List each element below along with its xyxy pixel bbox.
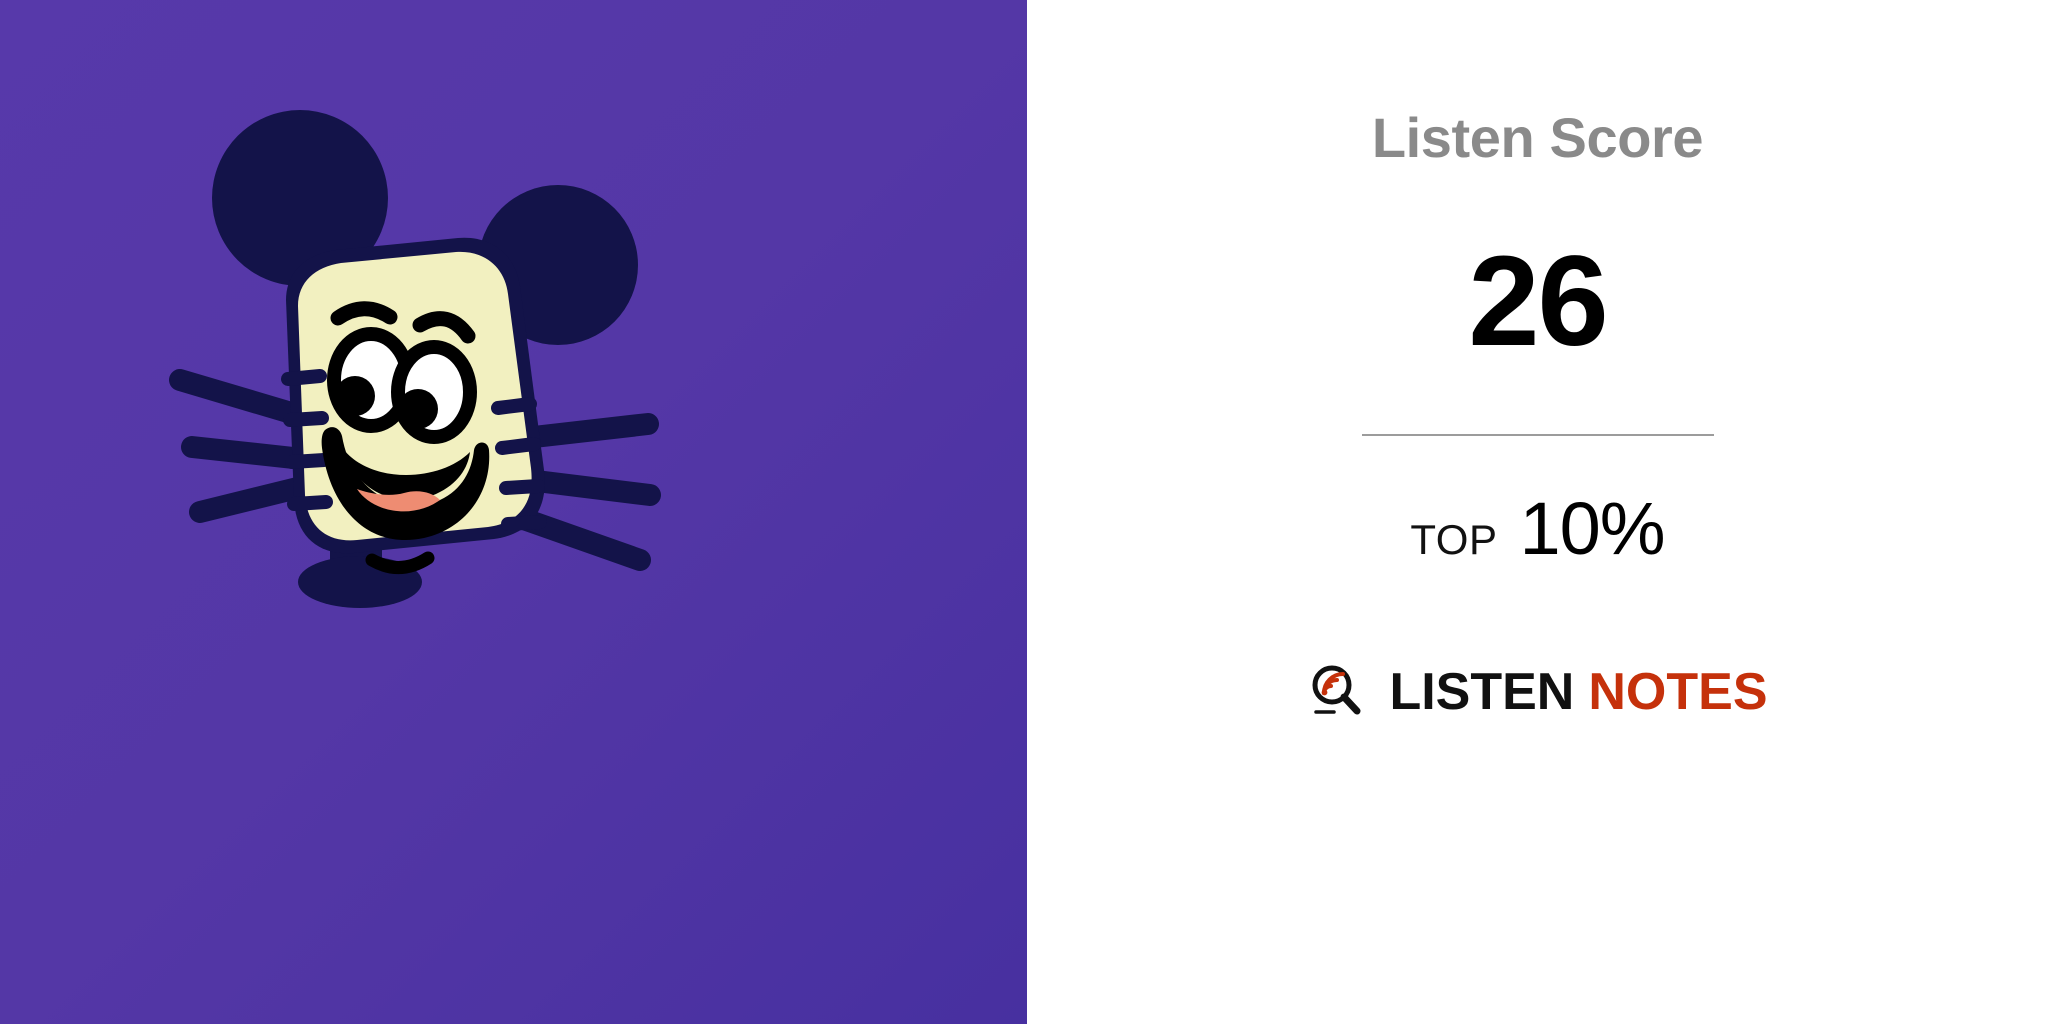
- tick-left-3: [292, 460, 324, 462]
- rank-percentile-value: 10%: [1519, 492, 1664, 566]
- rank-label: TOP: [1410, 519, 1497, 561]
- score-divider: [1362, 434, 1714, 436]
- eyes-group: [334, 334, 470, 437]
- tick-right-3: [506, 486, 538, 488]
- tick-right-4: [508, 522, 540, 524]
- tick-left-1: [288, 376, 320, 379]
- listennotes-wordmark: LISTENNOTES: [1389, 666, 1767, 718]
- pupil-right: [398, 389, 438, 429]
- podcast-cover-art: [0, 0, 1027, 1024]
- listen-score-value: 26: [1468, 238, 1606, 366]
- listennotes-magnifier-rss-icon: [1307, 662, 1367, 722]
- tick-right-1: [498, 404, 530, 408]
- rank-row: TOP 10%: [1410, 492, 1664, 566]
- listen-score-card: Listen Score 26 TOP 10%: [0, 0, 2048, 1024]
- listennotes-brand[interactable]: LISTENNOTES: [1307, 662, 1767, 722]
- podcast-artwork-panel: [0, 0, 1027, 1024]
- pupil-left: [335, 376, 375, 416]
- listen-score-panel: Listen Score 26 TOP 10%: [1027, 0, 2048, 1024]
- brand-word-notes: NOTES: [1588, 663, 1767, 721]
- listen-score-title: Listen Score: [1372, 110, 1703, 166]
- brand-word-listen: LISTEN: [1389, 663, 1574, 721]
- tick-right-2: [502, 444, 534, 448]
- tick-left-2: [290, 418, 322, 420]
- tick-left-4: [294, 502, 326, 504]
